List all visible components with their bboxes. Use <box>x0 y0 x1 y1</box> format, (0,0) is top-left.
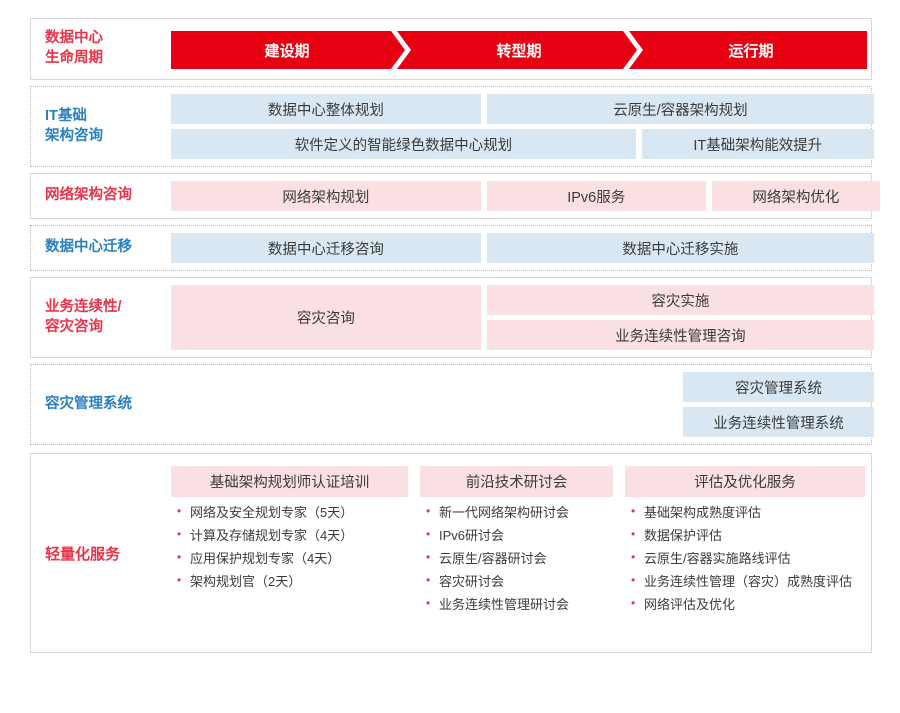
row-body-business-continuity-dr-consulting: 容灾咨询容灾实施业务连续性管理咨询 <box>171 278 871 357</box>
row-data-center-migration: 数据中心迁移数据中心迁移咨询数据中心迁移实施 <box>30 225 872 271</box>
datacenter-service-matrix: 数据中心 生命周期 建设期 转型期 运行期 IT基础架构咨询数据中心整体规 <box>0 0 900 713</box>
panel-label-light-services: 轻量化服务 <box>31 454 171 652</box>
row-network-architecture-consulting: 网络架构咨询网络架构规划IPv6服务网络架构优化 <box>30 173 872 219</box>
row-label-line: 容灾咨询 <box>45 318 122 338</box>
panel-light-services: 轻量化服务 基础架构规划师认证培训网络及安全规划专家（5天）计算及存储规划专家（… <box>30 453 872 653</box>
row-lifecycle: 数据中心 生命周期 建设期 转型期 运行期 <box>30 18 872 80</box>
service-cell[interactable]: 数据中心整体规划 <box>171 94 481 124</box>
service-cell[interactable]: 网络架构优化 <box>712 181 880 211</box>
lifecycle-phase-transformation[interactable]: 转型期 <box>403 31 635 69</box>
service-cell[interactable]: 业务连续性管理系统 <box>683 407 874 437</box>
cell-spacer <box>171 407 677 437</box>
list-item[interactable]: 网络评估及优化 <box>631 598 863 613</box>
row-label-line: 数据中心迁移 <box>45 238 132 258</box>
row-label-line: 容灾管理系统 <box>45 395 132 415</box>
list-item[interactable]: 基础架构成熟度评估 <box>631 506 863 521</box>
list-item[interactable]: 架构规划官（2天） <box>177 575 406 590</box>
cell-spacer <box>171 372 677 402</box>
row-label-lifecycle: 数据中心 生命周期 <box>31 19 171 79</box>
row-body-data-center-migration: 数据中心迁移咨询数据中心迁移实施 <box>171 226 871 270</box>
row-label-it-infrastructure-consulting: IT基础架构咨询 <box>31 87 171 166</box>
list-item[interactable]: 业务连续性管理（容灾）成熟度评估 <box>631 575 863 590</box>
service-cell[interactable]: 软件定义的智能绿色数据中心规划 <box>171 129 636 159</box>
row-label-network-architecture-consulting: 网络架构咨询 <box>31 174 171 218</box>
column-list: 新一代网络架构研讨会IPv6研讨会云原生/容器研讨会容灾研讨会业务连续性管理研讨… <box>420 497 613 621</box>
list-item[interactable]: 业务连续性管理研讨会 <box>426 598 611 613</box>
service-cell[interactable]: IPv6服务 <box>487 181 706 211</box>
service-cell[interactable]: IT基础架构能效提升 <box>642 129 874 159</box>
row-dr-management-system: 容灾管理系统容灾管理系统业务连续性管理系统 <box>30 364 872 445</box>
row-label-dr-management-system: 容灾管理系统 <box>31 365 171 444</box>
light-services-columns: 基础架构规划师认证培训网络及安全规划专家（5天）计算及存储规划专家（4天）应用保… <box>171 454 871 652</box>
lifecycle-label-line2: 生命周期 <box>45 49 103 69</box>
column-list: 网络及安全规划专家（5天）计算及存储规划专家（4天）应用保护规划专家（4天）架构… <box>171 497 408 598</box>
light-services-column-assessment-optimization: 评估及优化服务基础架构成熟度评估数据保护评估云原生/容器实施路线评估业务连续性管… <box>625 466 865 640</box>
service-cell[interactable]: 云原生/容器架构规划 <box>487 94 874 124</box>
list-item[interactable]: 应用保护规划专家（4天） <box>177 552 406 567</box>
lifecycle-label-line1: 数据中心 <box>45 29 103 49</box>
list-item[interactable]: 容灾研讨会 <box>426 575 611 590</box>
lifecycle-phase-label: 运行期 <box>728 40 773 61</box>
service-cell[interactable]: 数据中心迁移实施 <box>487 233 874 263</box>
lifecycle-arrow-track: 建设期 转型期 运行期 <box>171 31 867 69</box>
row-body-it-infrastructure-consulting: 数据中心整体规划云原生/容器架构规划软件定义的智能绿色数据中心规划IT基础架构能… <box>171 87 871 166</box>
row-it-infrastructure-consulting: IT基础架构咨询数据中心整体规划云原生/容器架构规划软件定义的智能绿色数据中心规… <box>30 86 872 167</box>
service-cell[interactable]: 数据中心迁移咨询 <box>171 233 481 263</box>
row-band: 容灾管理系统 <box>171 372 868 402</box>
row-band: 软件定义的智能绿色数据中心规划IT基础架构能效提升 <box>171 129 868 159</box>
service-rows: IT基础架构咨询数据中心整体规划云原生/容器架构规划软件定义的智能绿色数据中心规… <box>30 86 872 445</box>
lifecycle-phase-label: 转型期 <box>496 40 541 61</box>
row-label-data-center-migration: 数据中心迁移 <box>31 226 171 270</box>
light-services-column-technology-seminars: 前沿技术研讨会新一代网络架构研讨会IPv6研讨会云原生/容器研讨会容灾研讨会业务… <box>420 466 613 640</box>
list-item[interactable]: 计算及存储规划专家（4天） <box>177 529 406 544</box>
list-item[interactable]: IPv6研讨会 <box>426 529 611 544</box>
list-item[interactable]: 新一代网络架构研讨会 <box>426 506 611 521</box>
row-band: 容灾咨询容灾实施业务连续性管理咨询 <box>171 285 868 350</box>
service-cell[interactable]: 容灾管理系统 <box>683 372 874 402</box>
row-label-line: 业务连续性/ <box>45 298 122 318</box>
service-cell[interactable]: 容灾实施 <box>487 285 874 315</box>
list-item[interactable]: 数据保护评估 <box>631 529 863 544</box>
service-cell-stack: 容灾实施业务连续性管理咨询 <box>487 285 874 350</box>
column-header: 基础架构规划师认证培训 <box>171 466 408 497</box>
service-cell[interactable]: 业务连续性管理咨询 <box>487 320 874 350</box>
row-label-line: IT基础 <box>45 107 103 127</box>
column-header: 前沿技术研讨会 <box>420 466 613 497</box>
row-band: 网络架构规划IPv6服务网络架构优化 <box>171 181 868 211</box>
row-label-business-continuity-dr-consulting: 业务连续性/容灾咨询 <box>31 278 171 357</box>
row-business-continuity-dr-consulting: 业务连续性/容灾咨询容灾咨询容灾实施业务连续性管理咨询 <box>30 277 872 358</box>
lifecycle-phase-label: 建设期 <box>264 40 309 61</box>
light-services-column-certification-training: 基础架构规划师认证培训网络及安全规划专家（5天）计算及存储规划专家（4天）应用保… <box>171 466 408 640</box>
row-band: 数据中心整体规划云原生/容器架构规划 <box>171 94 868 124</box>
row-body-network-architecture-consulting: 网络架构规划IPv6服务网络架构优化 <box>171 174 871 218</box>
column-header: 评估及优化服务 <box>625 466 865 497</box>
lifecycle-phase-operation[interactable]: 运行期 <box>635 31 867 69</box>
row-label-line: 网络架构咨询 <box>45 186 132 206</box>
row-body-dr-management-system: 容灾管理系统业务连续性管理系统 <box>171 365 871 444</box>
row-band: 数据中心迁移咨询数据中心迁移实施 <box>171 233 868 263</box>
column-list: 基础架构成熟度评估数据保护评估云原生/容器实施路线评估业务连续性管理（容灾）成熟… <box>625 497 865 621</box>
lifecycle-phase-construction[interactable]: 建设期 <box>171 31 403 69</box>
row-band: 业务连续性管理系统 <box>171 407 868 437</box>
row-label-line: 架构咨询 <box>45 127 103 147</box>
service-cell[interactable]: 网络架构规划 <box>171 181 481 211</box>
list-item[interactable]: 云原生/容器研讨会 <box>426 552 611 567</box>
list-item[interactable]: 网络及安全规划专家（5天） <box>177 506 406 521</box>
list-item[interactable]: 云原生/容器实施路线评估 <box>631 552 863 567</box>
service-cell[interactable]: 容灾咨询 <box>171 285 481 350</box>
